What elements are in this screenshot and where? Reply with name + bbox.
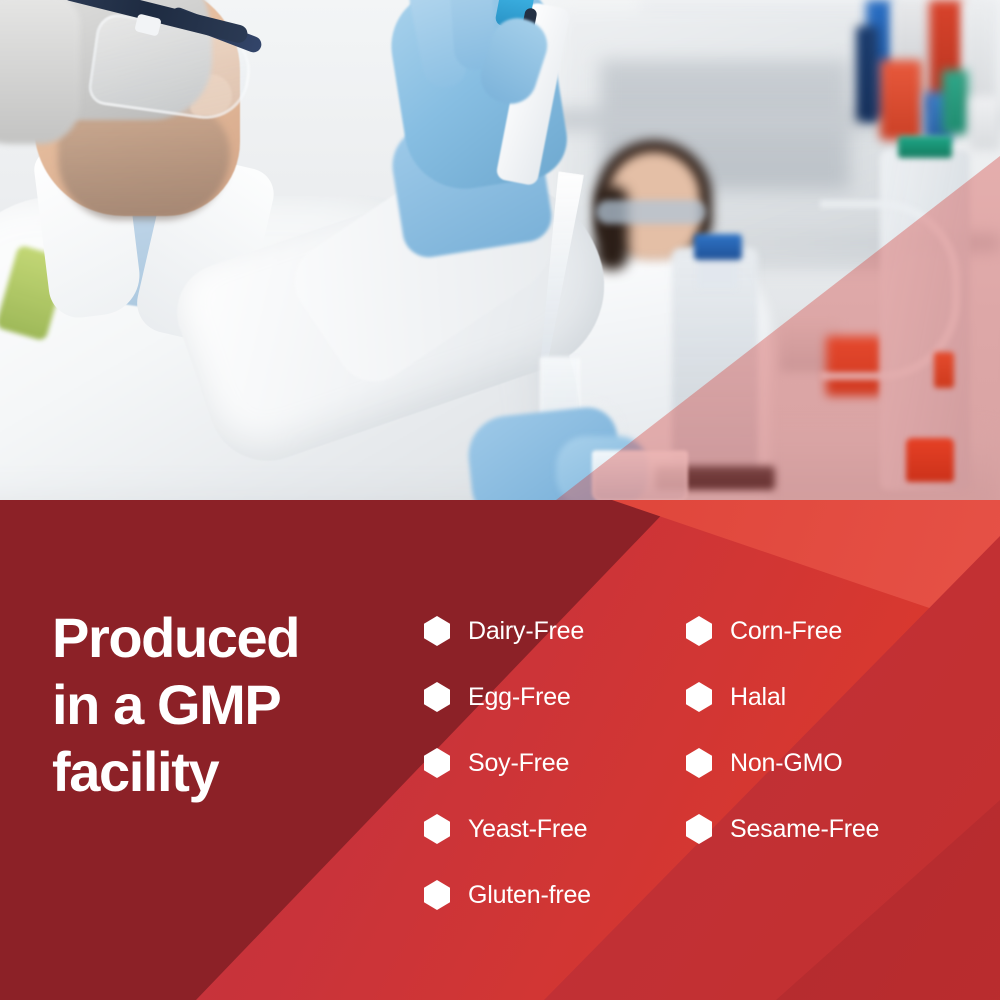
lab-photo — [0, 0, 1000, 500]
panel-content: Produced in a GMP facility Dairy-Free Co… — [0, 500, 1000, 1000]
scientist-beard — [58, 104, 230, 220]
shelf-bottle — [880, 60, 922, 140]
page-title: Produced in a GMP facility — [52, 604, 392, 805]
red-content-panel: Produced in a GMP facility Dairy-Free Co… — [0, 500, 1000, 1000]
hexagon-icon — [686, 616, 712, 646]
claim-item: Dairy-Free — [424, 598, 672, 664]
claim-label: Non-GMO — [730, 748, 843, 778]
hexagon-icon — [424, 748, 450, 778]
hexagon-icon — [686, 748, 712, 778]
claim-label: Soy-Free — [468, 748, 569, 778]
gmp-facility-banner: Produced in a GMP facility Dairy-Free Co… — [0, 0, 1000, 1000]
headline-line-1: Produced — [52, 606, 299, 669]
background-scientist-goggles — [596, 200, 706, 224]
claims-grid: Dairy-Free Corn-Free Egg-Free Halal Soy-… — [424, 598, 964, 928]
claim-label: Gluten-free — [468, 880, 591, 910]
claim-item: Yeast-Free — [424, 796, 672, 862]
hexagon-icon — [424, 682, 450, 712]
cylinder-cap — [898, 136, 952, 158]
hexagon-icon — [424, 814, 450, 844]
hexagon-icon — [686, 814, 712, 844]
claim-label: Yeast-Free — [468, 814, 587, 844]
claim-item: Soy-Free — [424, 730, 672, 796]
claim-item: Halal — [686, 664, 934, 730]
hexagon-icon — [424, 880, 450, 910]
headline-line-3: facility — [52, 740, 218, 803]
headline-line-2: in a GMP — [52, 673, 280, 736]
claim-label: Corn-Free — [730, 616, 842, 646]
shelf-bottle — [856, 26, 878, 122]
claim-label: Halal — [730, 682, 786, 712]
scientist-hair-side — [0, 0, 80, 144]
claim-label: Dairy-Free — [468, 616, 584, 646]
claim-item: Sesame-Free — [686, 796, 934, 862]
shelf-bottle — [970, 96, 1000, 150]
reagent-bottle-cap — [694, 234, 742, 260]
shelf-bottle — [942, 70, 968, 134]
background-scientist-hair-side — [596, 186, 628, 270]
hexagon-icon — [686, 682, 712, 712]
hexagon-icon — [424, 616, 450, 646]
claim-label: Egg-Free — [468, 682, 571, 712]
claim-item: Corn-Free — [686, 598, 934, 664]
claim-item: Gluten-free — [424, 862, 672, 928]
claim-label: Sesame-Free — [730, 814, 879, 844]
claim-item: Egg-Free — [424, 664, 672, 730]
claim-item: Non-GMO — [686, 730, 934, 796]
